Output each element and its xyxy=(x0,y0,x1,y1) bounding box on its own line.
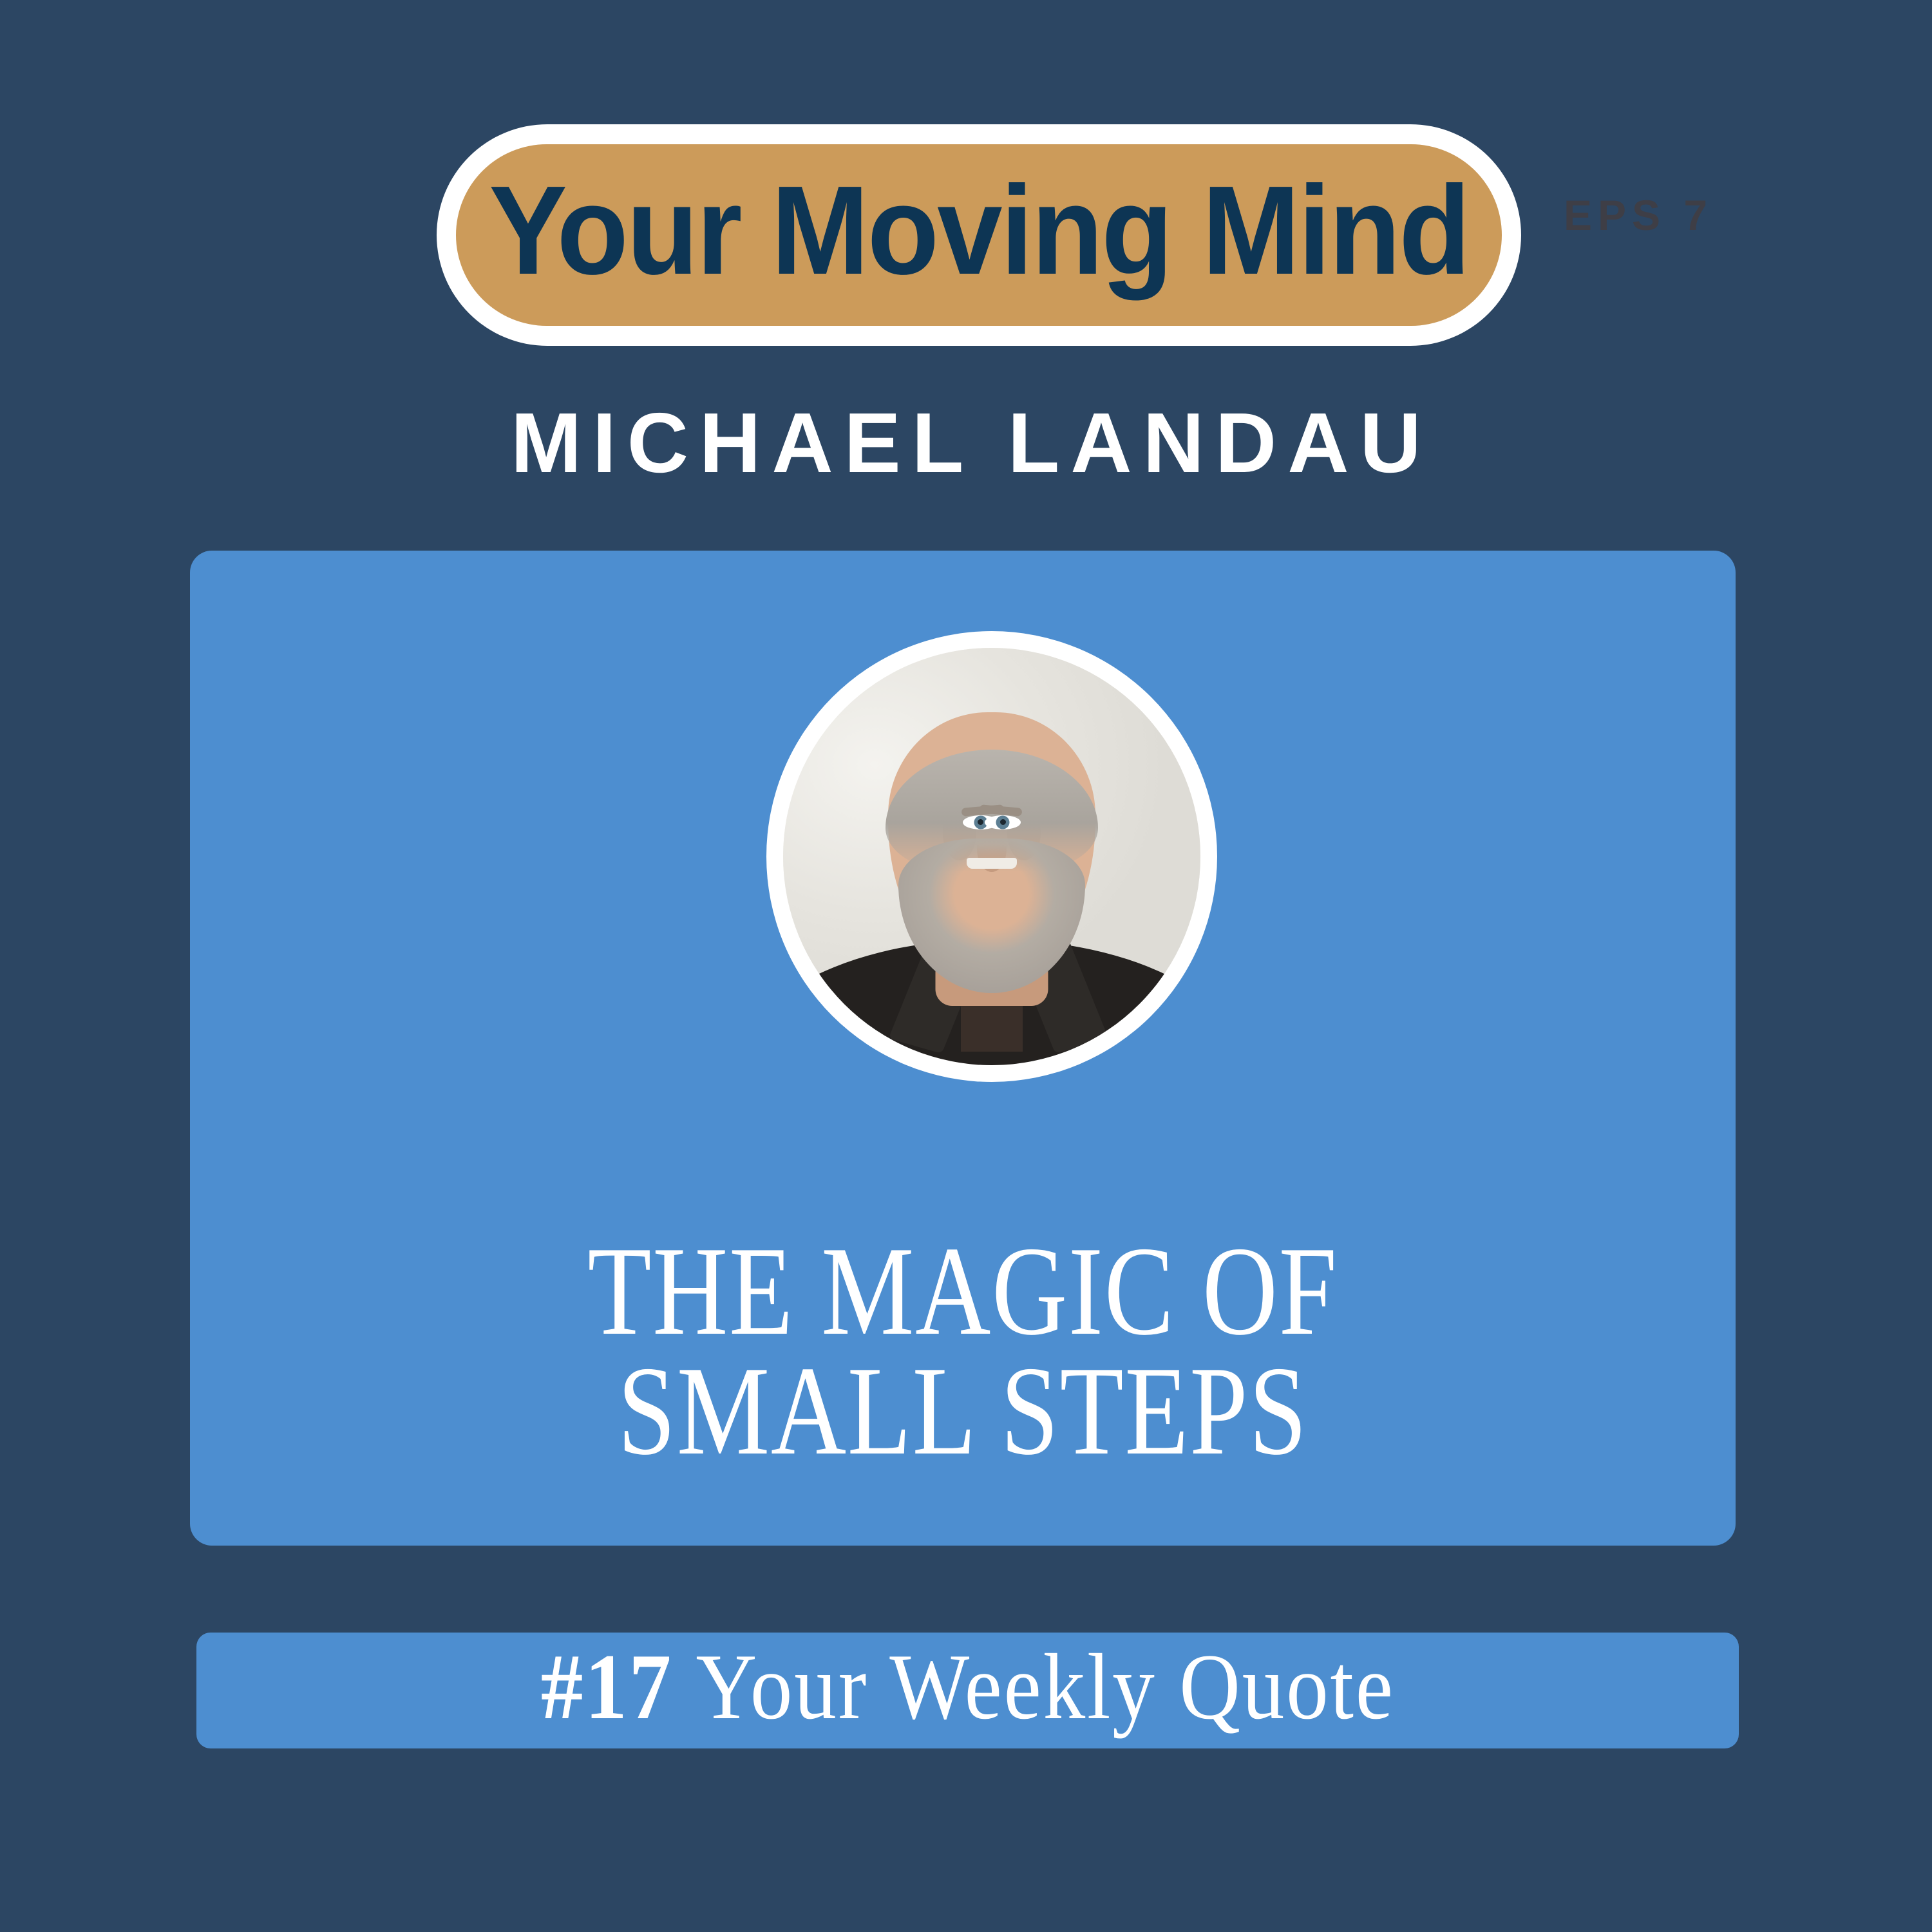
mouth-shape xyxy=(967,858,1017,869)
footer-episode-number: #17 xyxy=(540,1634,672,1739)
podcast-logo-inner-pill: Your Moving Mind xyxy=(456,144,1502,326)
episode-title-line-2: SMALL STEPS xyxy=(329,1351,1596,1471)
footer-banner: #17 Your Weekly Quote xyxy=(196,1633,1739,1748)
podcast-cover-art: Your Moving Mind EPS 7 MICHAEL LANDAU xyxy=(0,0,1932,1932)
host-avatar-ring xyxy=(766,631,1217,1082)
episode-number-badge: EPS 7 xyxy=(1564,191,1713,240)
podcast-title: Your Moving Mind xyxy=(489,173,1468,298)
podcast-logo-badge: Your Moving Mind xyxy=(437,124,1521,346)
footer-series-label: Your Weekly Quote xyxy=(696,1634,1394,1739)
host-name: MICHAEL LANDAU xyxy=(0,394,1932,491)
footer-banner-text: #17 Your Weekly Quote xyxy=(540,1640,1394,1741)
head-shape xyxy=(888,712,1095,970)
host-avatar-photo xyxy=(783,648,1200,1065)
episode-title: THE MAGIC OF SMALL STEPS xyxy=(329,1231,1596,1471)
episode-title-line-1: THE MAGIC OF xyxy=(329,1231,1596,1351)
